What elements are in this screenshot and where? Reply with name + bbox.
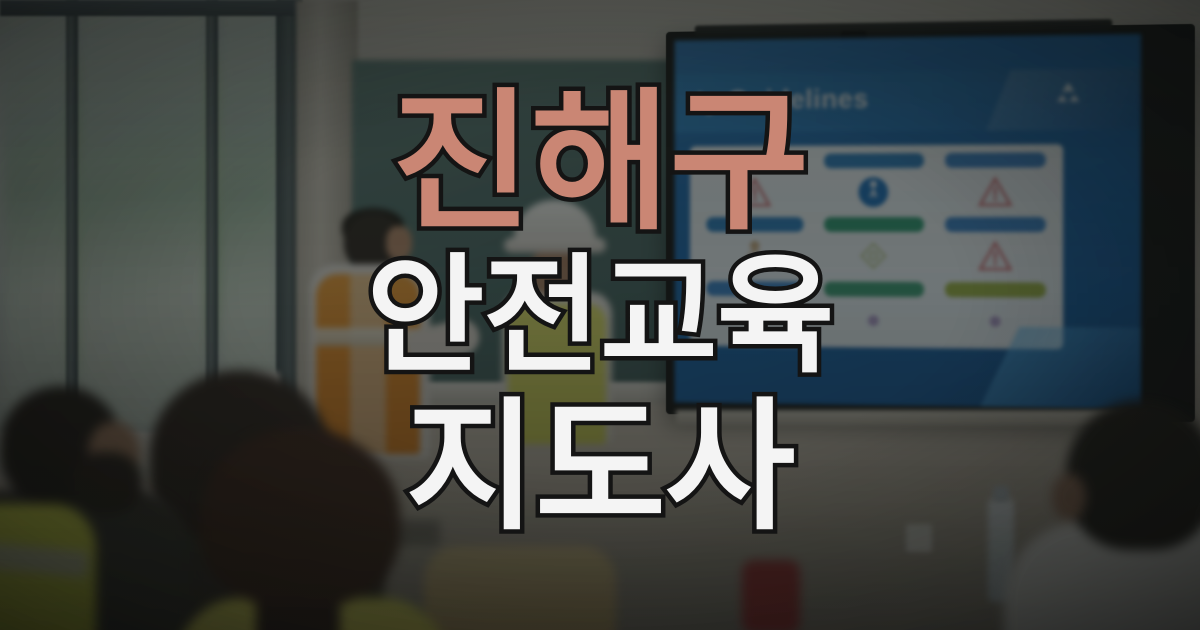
headline-overlay: 진해구 안전교육 지도사 <box>0 0 1200 630</box>
headline-line-3: 지도사 <box>406 397 795 539</box>
thumbnail-canvas: ty Guidelines <box>0 0 1200 630</box>
headline-line-2: 안전교육 <box>366 253 833 381</box>
headline-line-1: 진해구 <box>392 87 809 239</box>
